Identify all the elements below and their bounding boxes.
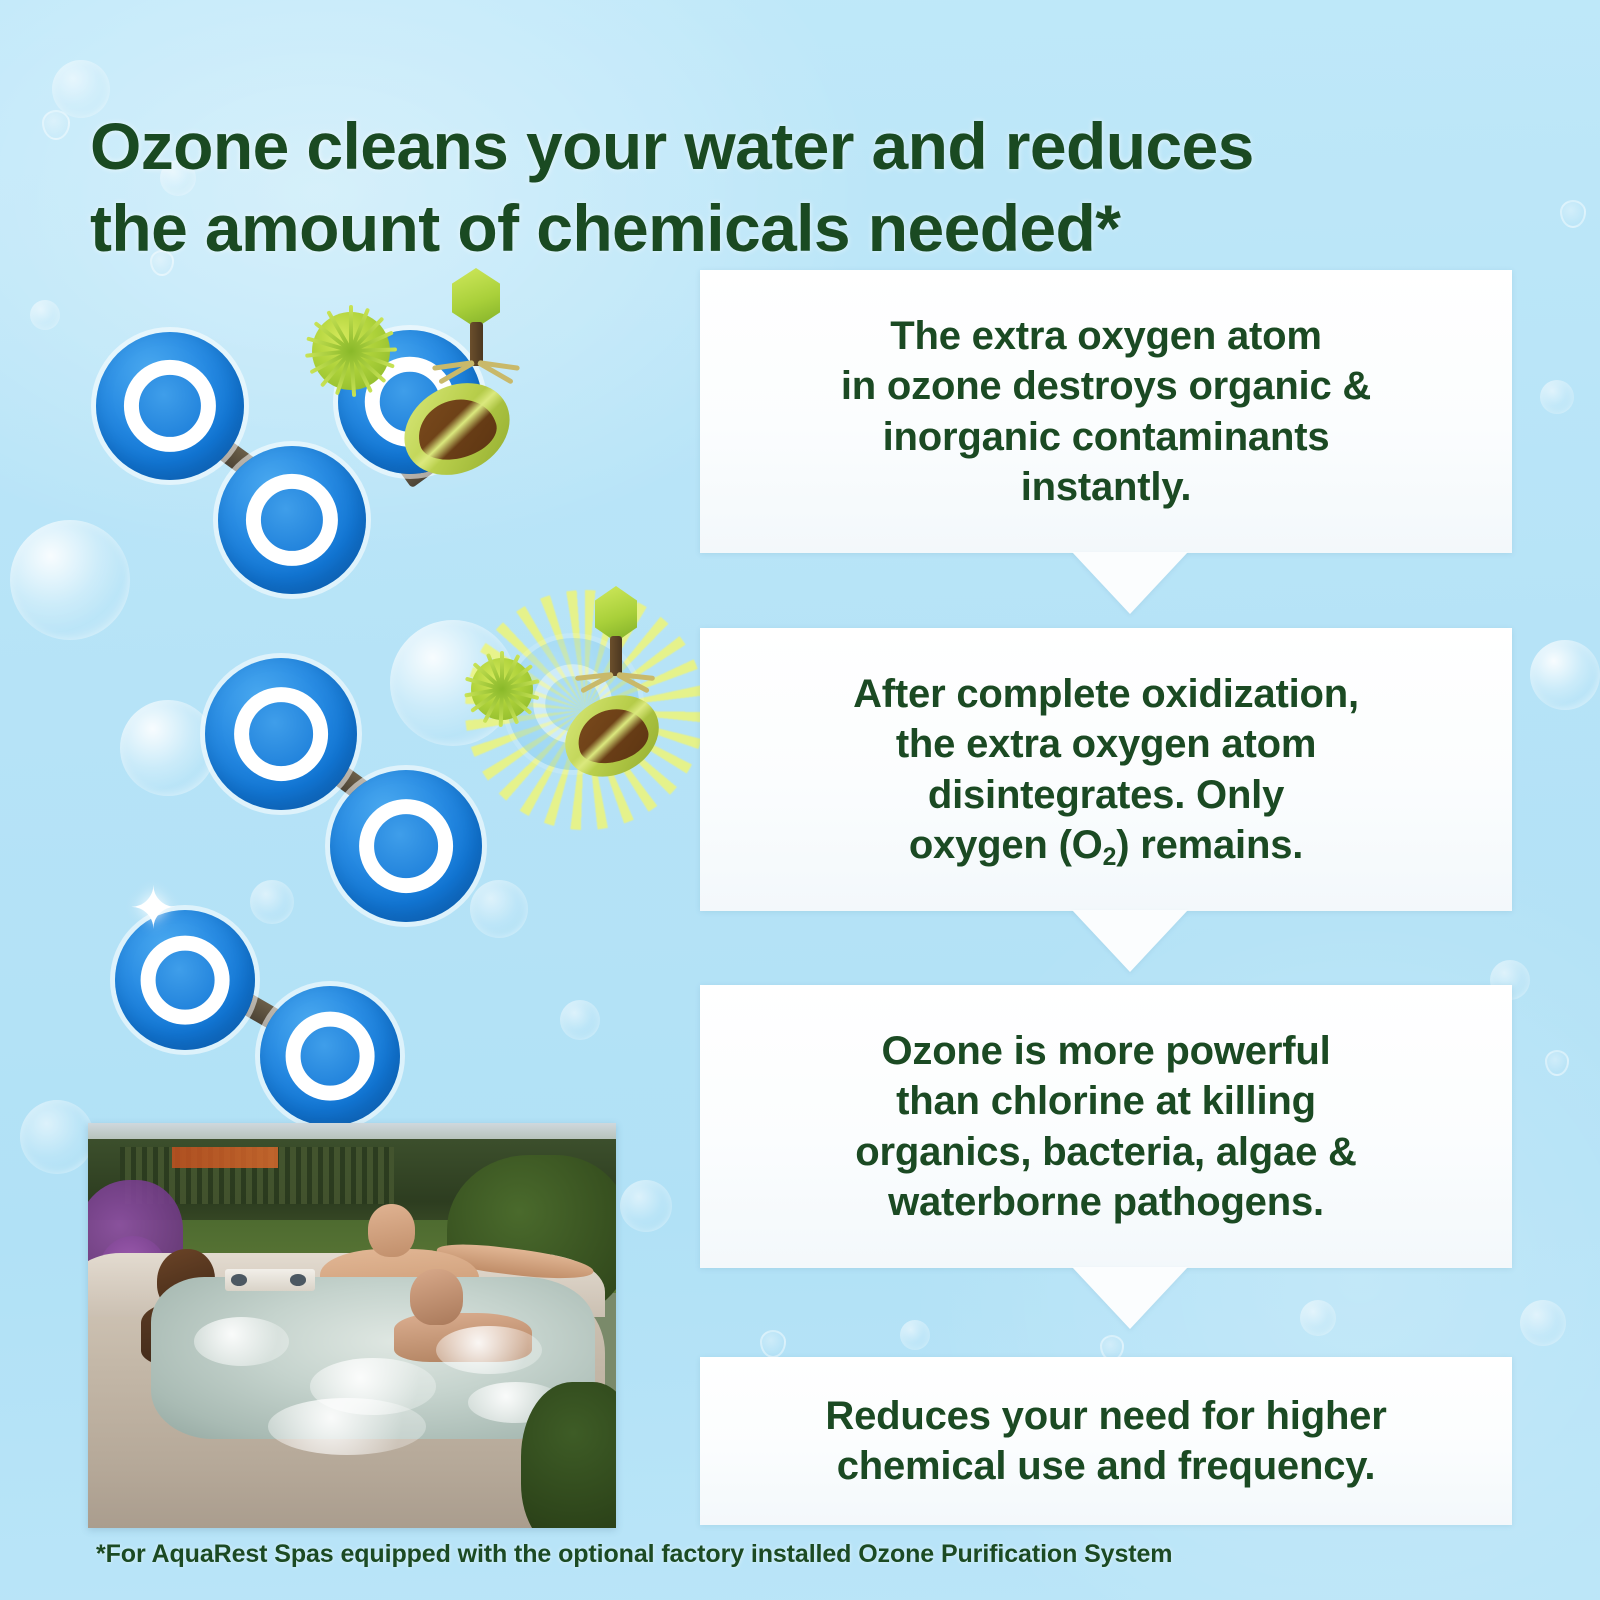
- info-line: in ozone destroys organic &: [841, 364, 1371, 408]
- oxygen-atom: [205, 658, 357, 810]
- info-line: the extra oxygen atom: [896, 722, 1316, 766]
- background-bubble: [900, 1320, 930, 1350]
- background-bubble: [20, 1100, 94, 1174]
- info-box-more-powerful: Ozone is more powerful than chlorine at …: [700, 985, 1512, 1268]
- info-line: inorganic contaminants: [883, 415, 1330, 459]
- bacteriophage-icon: [577, 586, 677, 706]
- footnote-text: *For AquaRest Spas equipped with the opt…: [96, 1540, 1172, 1569]
- info-line: Reduces your need for higher: [825, 1394, 1386, 1438]
- box-pointer-arrow: [1072, 552, 1188, 614]
- background-bubble: [1300, 1300, 1336, 1336]
- info-box-text: The extra oxygen atom in ozone destroys …: [815, 311, 1397, 513]
- headline-line-2: the amount of chemicals needed*: [90, 188, 1420, 270]
- info-line: Ozone is more powerful: [881, 1029, 1330, 1073]
- box-pointer-arrow: [1072, 1267, 1188, 1329]
- background-bubble: [1540, 380, 1574, 414]
- formula-subscript: 2: [1103, 844, 1117, 871]
- background-bubble: [30, 300, 60, 330]
- info-box-after-oxidization: After complete oxidization, the extra ox…: [700, 628, 1512, 911]
- info-line: chemical use and frequency.: [837, 1444, 1376, 1488]
- box-pointer-arrow: [1072, 910, 1188, 972]
- pathogen-cluster-2: [455, 580, 715, 840]
- info-line-formula-prefix: oxygen (O: [909, 823, 1103, 867]
- info-line: disintegrates. Only: [928, 773, 1284, 817]
- background-bubble: [1520, 1300, 1566, 1346]
- info-line: The extra oxygen atom: [890, 314, 1321, 358]
- pathogen-cluster-1: [290, 268, 550, 498]
- info-box-reduces-need: Reduces your need for higher chemical us…: [700, 1357, 1512, 1525]
- spiky-virus-icon: [312, 312, 390, 390]
- background-bubble: [560, 1000, 600, 1040]
- info-box-text: Reduces your need for higher chemical us…: [799, 1391, 1412, 1492]
- oxygen-atom: [260, 986, 400, 1126]
- page-title: Ozone cleans your water and reduces the …: [90, 106, 1420, 270]
- oxygen-molecule-o2: ✦: [105, 890, 435, 1130]
- spa-control-panel: [225, 1269, 315, 1291]
- info-line: organics, bacteria, algae &: [855, 1130, 1356, 1174]
- sparkle-icon: ✦: [129, 880, 178, 938]
- background-bubble: [1530, 640, 1600, 710]
- info-line-formula-suffix: ) remains.: [1116, 823, 1303, 867]
- oxygen-atom: [96, 332, 244, 480]
- infographic-canvas: Ozone cleans your water and reduces the …: [0, 0, 1600, 1600]
- info-line: waterborne pathogens.: [888, 1180, 1324, 1224]
- info-line: instantly.: [1021, 465, 1192, 509]
- info-box-text: Ozone is more powerful than chlorine at …: [829, 1026, 1382, 1228]
- info-line: than chlorine at killing: [896, 1079, 1316, 1123]
- background-bubble: [620, 1180, 672, 1232]
- info-box-oxygen-destroys: The extra oxygen atom in ozone destroys …: [700, 270, 1512, 553]
- bacteriophage-icon: [430, 268, 540, 398]
- info-line: After complete oxidization,: [853, 672, 1359, 716]
- info-box-text: After complete oxidization, the extra ox…: [827, 669, 1385, 871]
- spiky-virus-icon: [471, 658, 533, 720]
- family-in-hot-tub-photo: [88, 1123, 616, 1528]
- headline-line-1: Ozone cleans your water and reduces: [90, 106, 1420, 188]
